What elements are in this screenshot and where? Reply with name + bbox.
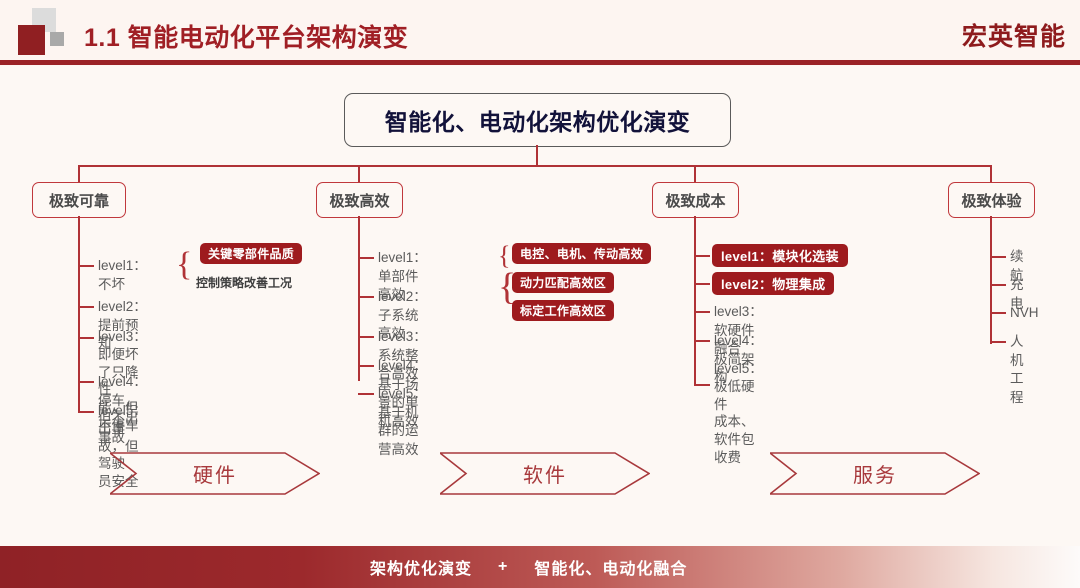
- category-box-reliability[interactable]: 极致可靠: [32, 182, 126, 218]
- slide-canvas: 1.1 智能电动化平台架构演变 宏英智能 智能化、电动化架构优化演变 极致可靠 …: [0, 0, 1080, 588]
- list-item: level5：极低硬件 成本、软件包收费: [714, 360, 763, 467]
- list-item: NVH: [1010, 304, 1039, 323]
- highlight-badge: 动力匹配高效区: [512, 272, 614, 293]
- item-tick: [358, 257, 374, 259]
- item-tick: [78, 265, 94, 267]
- item-tick: [358, 365, 374, 367]
- decor-square-gray: [50, 32, 64, 46]
- highlight-badge: 标定工作高效区: [512, 300, 614, 321]
- connector-drop-3: [990, 165, 992, 182]
- item-tick: [694, 255, 710, 257]
- connector-horizontal-bar: [78, 165, 991, 167]
- slide-footer: 架构优化演变 + 智能化、电动化融合: [0, 546, 1080, 588]
- item-tick: [990, 284, 1006, 286]
- footer-right-label: 智能化、电动化融合: [534, 555, 687, 579]
- item-tick: [78, 337, 94, 339]
- header-divider: [0, 60, 1080, 65]
- highlight-badge: 关键零部件品质: [200, 243, 302, 264]
- item-tick: [358, 336, 374, 338]
- highlight-badge: 电控、电机、传动高效: [512, 243, 651, 264]
- chevron-software[interactable]: 软件: [440, 452, 650, 495]
- root-title-box: 智能化、电动化架构优化演变: [344, 93, 731, 147]
- decor-square-red: [18, 25, 45, 55]
- connector-drop-0: [78, 165, 80, 182]
- item-tick: [694, 340, 710, 342]
- connector-root-stem: [536, 145, 538, 165]
- column-spine: [694, 216, 696, 384]
- chevron-label: 服务: [853, 459, 897, 488]
- item-tick: [78, 381, 94, 383]
- column-spine: [990, 216, 992, 344]
- sub-text: 控制策略改善工况: [196, 274, 292, 291]
- chevron-hardware[interactable]: 硬件: [110, 452, 320, 495]
- footer-left-label: 架构优化演变: [370, 555, 472, 579]
- item-tick: [358, 296, 374, 298]
- list-item-highlight: level1：模块化选装: [712, 244, 848, 267]
- connector-drop-2: [694, 165, 696, 182]
- page-title: 1.1 智能电动化平台架构演变: [84, 18, 408, 54]
- category-box-cost[interactable]: 极致成本: [652, 182, 739, 218]
- footer-plus-symbol: +: [498, 558, 508, 576]
- item-tick: [694, 384, 710, 386]
- category-box-efficiency[interactable]: 极致高效: [316, 182, 403, 218]
- chevron-label: 软件: [523, 459, 567, 488]
- list-item-highlight: level2：物理集成: [712, 272, 834, 295]
- item-tick: [78, 306, 94, 308]
- item-tick: [990, 341, 1006, 343]
- column-spine: [358, 216, 360, 381]
- chevron-service[interactable]: 服务: [770, 452, 980, 495]
- list-item: level1：不坏: [98, 257, 147, 294]
- item-tick: [358, 393, 374, 395]
- slide-header: 1.1 智能电动化平台架构演变 宏英智能: [0, 0, 1080, 66]
- item-tick: [990, 256, 1006, 258]
- item-tick: [694, 311, 710, 313]
- connector-drop-1: [358, 165, 360, 182]
- company-logo: 宏英智能: [962, 17, 1066, 53]
- item-tick: [990, 312, 1006, 314]
- item-tick: [78, 411, 94, 413]
- list-item: 人机工程: [1010, 333, 1024, 408]
- curly-brace: {: [176, 248, 192, 282]
- item-tick: [694, 283, 710, 285]
- category-box-experience[interactable]: 极致体验: [948, 182, 1035, 218]
- chevron-label: 硬件: [193, 459, 237, 488]
- list-item: level5：基于机群的运营高效: [378, 385, 427, 460]
